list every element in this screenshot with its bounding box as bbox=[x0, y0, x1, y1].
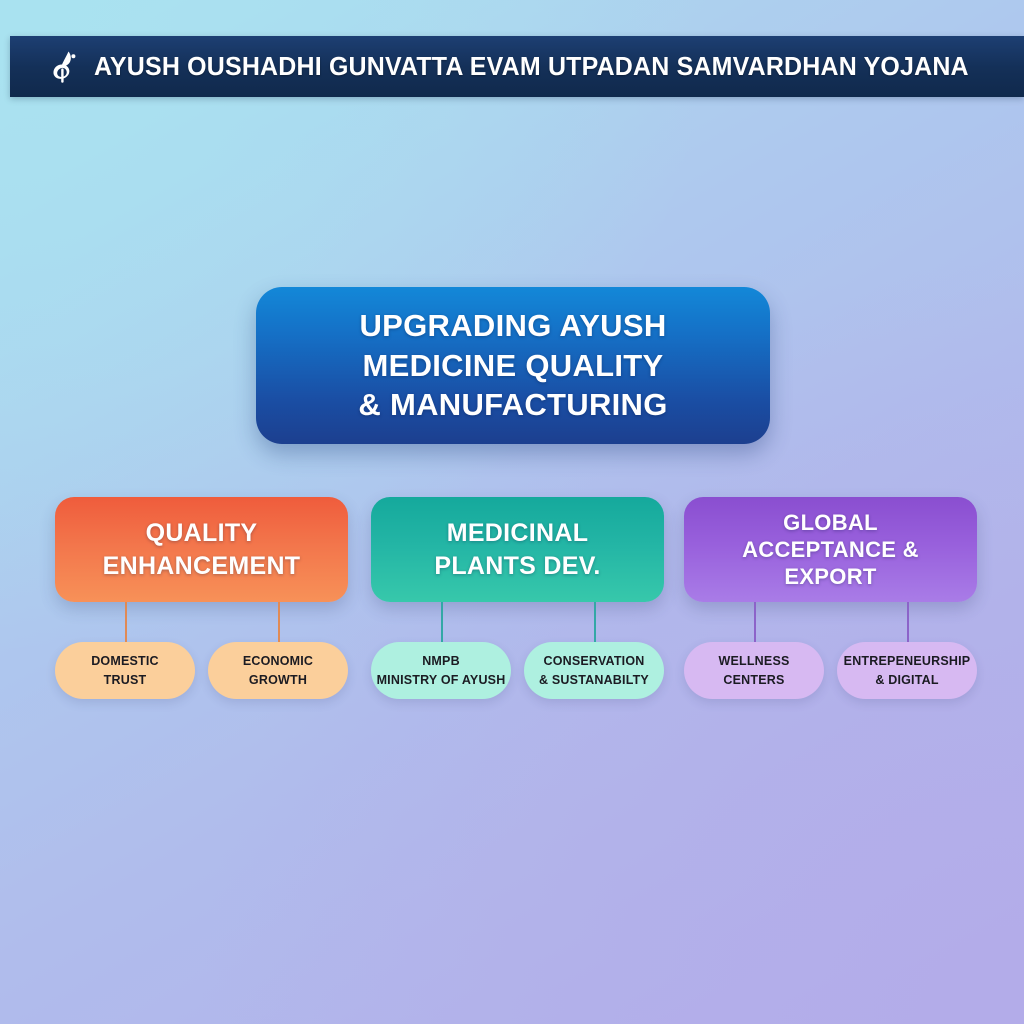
leaf-label-line-1: WELLNESS bbox=[718, 652, 789, 671]
branch-box-global-acceptance-export[interactable]: GLOBAL ACCEPTANCE & EXPORT bbox=[684, 497, 977, 602]
branch-column-medicinal-plants-dev: MEDICINAL PLANTS DEV. NMPB MINISTRY OF A… bbox=[371, 497, 664, 699]
leaf-pill-domestic-trust[interactable]: DOMESTIC TRUST bbox=[55, 642, 195, 699]
infographic-canvas: AYUSH OUSHADHI GUNVATTA EVAM UTPADAN SAM… bbox=[0, 0, 1024, 1024]
branch-label-line-2: ENHANCEMENT bbox=[103, 550, 301, 583]
leaf-row: NMPB MINISTRY OF AYUSH CONSERVATION & SU… bbox=[371, 642, 664, 699]
root-node-line-2: MEDICINE QUALITY bbox=[362, 346, 663, 386]
leaf-label-line-2: CENTERS bbox=[723, 671, 784, 690]
connector-line-right bbox=[278, 602, 280, 642]
connector-group bbox=[684, 602, 977, 642]
leaf-pill-conservation-sustainability[interactable]: CONSERVATION & SUSTANABILTY bbox=[524, 642, 664, 699]
connector-group bbox=[55, 602, 348, 642]
leaf-label-line-2: & DIGITAL bbox=[875, 671, 938, 690]
leaf-label-line-1: ENTREPENEURSHIP bbox=[844, 652, 971, 671]
connector-line-left bbox=[754, 602, 756, 642]
leaf-label-line-1: ECONOMIC bbox=[243, 652, 313, 671]
leaf-label-line-2: MINISTRY OF AYUSH bbox=[377, 671, 506, 690]
leaf-pill-economic-growth[interactable]: ECONOMIC GROWTH bbox=[208, 642, 348, 699]
leaf-label-line-2: TRUST bbox=[104, 671, 147, 690]
branch-label-line-2: PLANTS DEV. bbox=[434, 550, 600, 583]
branch-column-global-acceptance-export: GLOBAL ACCEPTANCE & EXPORT WELLNESS CENT… bbox=[684, 497, 977, 699]
branch-column-quality-enhancement: QUALITY ENHANCEMENT DOMESTIC TRUST ECONO… bbox=[55, 497, 348, 699]
connector-group bbox=[371, 602, 664, 642]
connector-line-left bbox=[441, 602, 443, 642]
leaf-label-line-1: DOMESTIC bbox=[91, 652, 159, 671]
leaf-pill-wellness-centers[interactable]: WELLNESS CENTERS bbox=[684, 642, 824, 699]
branch-box-quality-enhancement[interactable]: QUALITY ENHANCEMENT bbox=[55, 497, 348, 602]
branch-label-line-2: ACCEPTANCE & bbox=[742, 536, 919, 563]
root-node[interactable]: UPGRADING AYUSH MEDICINE QUALITY & MANUF… bbox=[256, 287, 770, 444]
ayurveda-leaf-icon bbox=[50, 50, 80, 84]
branch-label-line-1: GLOBAL bbox=[783, 509, 878, 536]
branch-label-line-1: QUALITY bbox=[146, 517, 258, 550]
connector-line-left bbox=[125, 602, 127, 642]
page-title: AYUSH OUSHADHI GUNVATTA EVAM UTPADAN SAM… bbox=[94, 51, 969, 82]
root-node-line-3: & MANUFACTURING bbox=[358, 385, 667, 425]
root-node-line-1: UPGRADING AYUSH bbox=[359, 306, 666, 346]
header-bar: AYUSH OUSHADHI GUNVATTA EVAM UTPADAN SAM… bbox=[10, 36, 1024, 97]
branch-label-line-1: MEDICINAL bbox=[447, 517, 589, 550]
leaf-pill-entrepreneurship-digital[interactable]: ENTREPENEURSHIP & DIGITAL bbox=[837, 642, 977, 699]
leaf-label-line-2: & SUSTANABILTY bbox=[539, 671, 649, 690]
leaf-label-line-1: CONSERVATION bbox=[543, 652, 644, 671]
leaf-row: WELLNESS CENTERS ENTREPENEURSHIP & DIGIT… bbox=[684, 642, 977, 699]
leaf-row: DOMESTIC TRUST ECONOMIC GROWTH bbox=[55, 642, 348, 699]
branch-label-line-3: EXPORT bbox=[784, 563, 876, 590]
leaf-pill-nmpb-ministry-of-ayush[interactable]: NMPB MINISTRY OF AYUSH bbox=[371, 642, 511, 699]
leaf-label-line-1: NMPB bbox=[422, 652, 460, 671]
leaf-label-line-2: GROWTH bbox=[249, 671, 307, 690]
connector-line-right bbox=[594, 602, 596, 642]
branch-box-medicinal-plants-dev[interactable]: MEDICINAL PLANTS DEV. bbox=[371, 497, 664, 602]
connector-line-right bbox=[907, 602, 909, 642]
